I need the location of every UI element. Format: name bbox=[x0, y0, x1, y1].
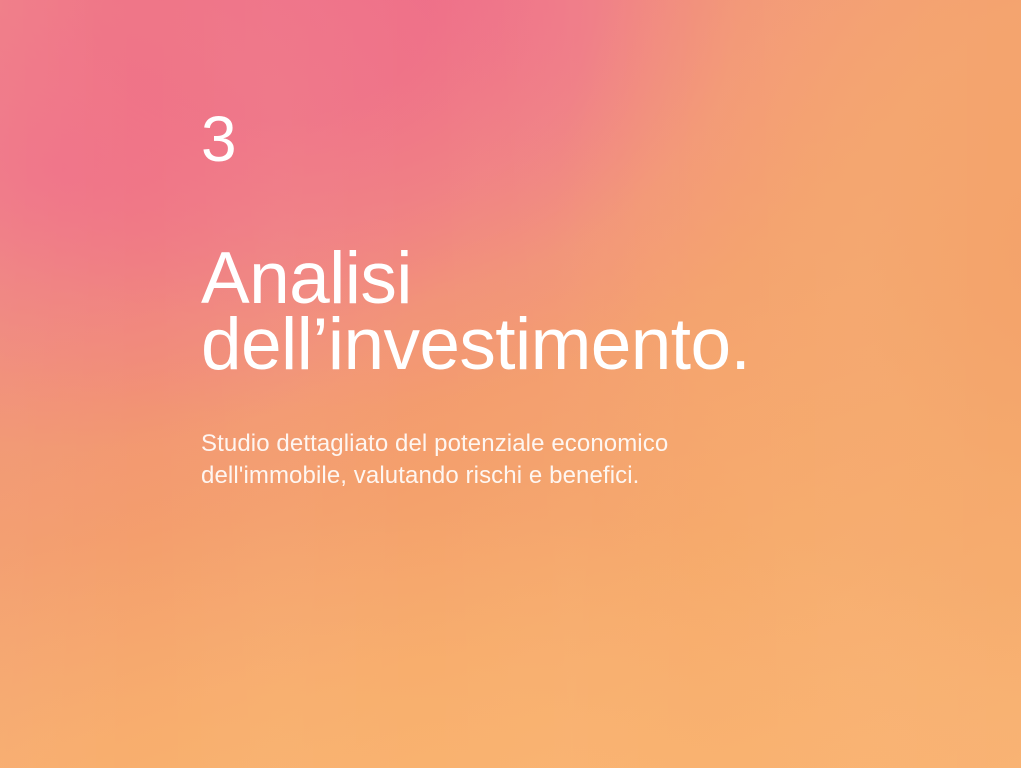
slide-content: 3 Analisi dell’investimento. Studio dett… bbox=[201, 0, 1021, 768]
presentation-slide: 3 Analisi dell’investimento. Studio dett… bbox=[0, 0, 1021, 768]
slide-subtitle-line-2: dell'immobile, valutando rischi e benefi… bbox=[201, 460, 668, 492]
section-number: 3 bbox=[201, 107, 237, 171]
page-title-line-1: Analisi bbox=[201, 246, 750, 312]
page-title-line-2: dell’investimento. bbox=[201, 312, 750, 378]
slide-subtitle-line-1: Studio dettagliato del potenziale econom… bbox=[201, 428, 668, 460]
slide-subtitle: Studio dettagliato del potenziale econom… bbox=[201, 428, 668, 492]
page-title: Analisi dell’investimento. bbox=[201, 246, 750, 378]
